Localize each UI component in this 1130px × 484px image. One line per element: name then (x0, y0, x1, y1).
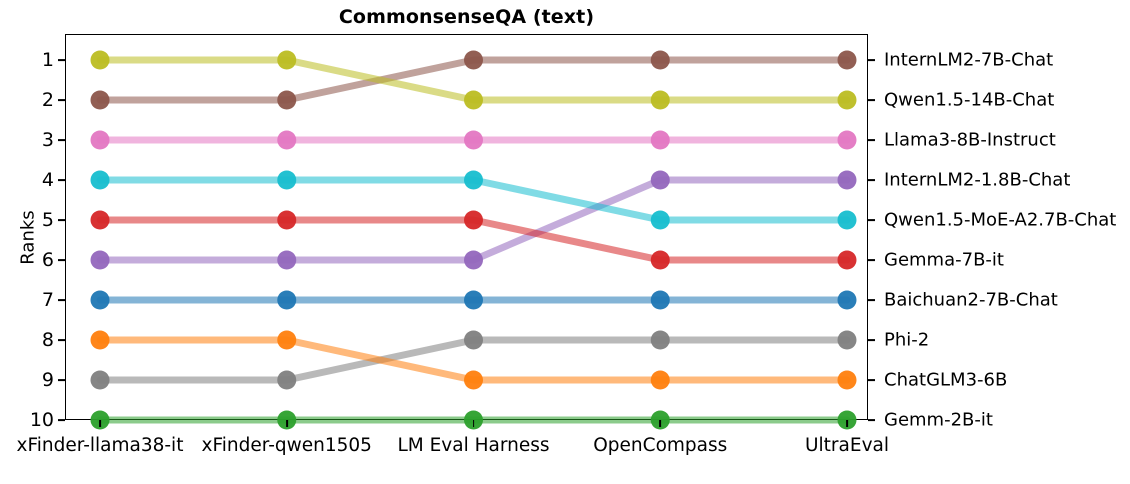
y-tick-label: 4 (10, 169, 54, 191)
data-point-marker[interactable] (464, 51, 483, 70)
x-tick-label: xFinder-llama38-it (17, 435, 184, 456)
x-tick-mark (846, 420, 848, 427)
right-tick-mark (868, 299, 875, 301)
data-point-marker[interactable] (464, 371, 483, 390)
data-point-marker[interactable] (277, 251, 296, 270)
data-point-marker[interactable] (838, 291, 857, 310)
data-point-marker[interactable] (651, 251, 670, 270)
data-point-marker[interactable] (651, 91, 670, 110)
series-label[interactable]: Llama3-8B-Instruct (884, 130, 1056, 151)
data-point-marker[interactable] (91, 91, 110, 110)
y-tick-label: 7 (10, 289, 54, 311)
data-point-marker[interactable] (91, 171, 110, 190)
series-label[interactable]: Gemm-2B-it (884, 410, 993, 431)
y-tick-mark (58, 99, 65, 101)
series-label[interactable]: Phi-2 (884, 330, 929, 351)
x-tick-mark (473, 420, 475, 427)
y-tick-mark (58, 59, 65, 61)
data-point-marker[interactable] (277, 211, 296, 230)
right-tick-mark (868, 219, 875, 221)
series-label[interactable]: Qwen1.5-14B-Chat (884, 90, 1054, 111)
right-tick-mark (868, 99, 875, 101)
x-tick-label: xFinder-qwen1505 (202, 435, 372, 456)
right-tick-mark (868, 339, 875, 341)
y-tick-mark (58, 299, 65, 301)
y-tick-label: 5 (10, 209, 54, 231)
data-point-marker[interactable] (91, 291, 110, 310)
data-point-marker[interactable] (277, 291, 296, 310)
data-point-marker[interactable] (651, 51, 670, 70)
data-point-marker[interactable] (651, 171, 670, 190)
data-point-marker[interactable] (464, 251, 483, 270)
data-point-marker[interactable] (277, 131, 296, 150)
y-tick-label: 2 (10, 89, 54, 111)
x-tick-mark (286, 420, 288, 427)
right-tick-mark (868, 139, 875, 141)
series-label[interactable]: Baichuan2-7B-Chat (884, 290, 1058, 311)
chart-canvas: CommonsenseQA (text) Ranks 12345678910 x… (0, 0, 1130, 484)
data-point-marker[interactable] (838, 171, 857, 190)
data-point-marker[interactable] (464, 91, 483, 110)
data-point-marker[interactable] (277, 371, 296, 390)
series-label[interactable]: ChatGLM3-6B (884, 370, 1007, 391)
series-label[interactable]: InternLM2-1.8B-Chat (884, 170, 1070, 191)
right-tick-mark (868, 59, 875, 61)
data-point-marker[interactable] (651, 291, 670, 310)
x-tick-mark (659, 420, 661, 427)
y-tick-mark (58, 139, 65, 141)
x-tick-mark (99, 420, 101, 427)
data-point-marker[interactable] (91, 211, 110, 230)
data-point-marker[interactable] (464, 131, 483, 150)
y-tick-mark (58, 259, 65, 261)
right-tick-mark (868, 379, 875, 381)
data-point-marker[interactable] (651, 131, 670, 150)
data-point-marker[interactable] (91, 51, 110, 70)
data-point-marker[interactable] (91, 131, 110, 150)
y-tick-mark (58, 219, 65, 221)
right-tick-mark (868, 259, 875, 261)
y-tick-label: 9 (10, 369, 54, 391)
data-point-marker[interactable] (838, 251, 857, 270)
right-tick-mark (868, 179, 875, 181)
data-point-marker[interactable] (277, 171, 296, 190)
y-tick-mark (58, 339, 65, 341)
data-point-marker[interactable] (91, 251, 110, 270)
y-tick-label: 1 (10, 49, 54, 71)
data-point-marker[interactable] (838, 51, 857, 70)
data-point-marker[interactable] (838, 91, 857, 110)
x-tick-label: OpenCompass (593, 435, 727, 456)
x-tick-label: UltraEval (805, 435, 889, 456)
y-tick-label: 8 (10, 329, 54, 351)
data-point-marker[interactable] (838, 331, 857, 350)
data-point-marker[interactable] (277, 51, 296, 70)
series-label[interactable]: InternLM2-7B-Chat (884, 50, 1053, 71)
data-point-marker[interactable] (464, 291, 483, 310)
data-point-marker[interactable] (651, 371, 670, 390)
data-point-marker[interactable] (838, 131, 857, 150)
right-tick-mark (868, 419, 875, 421)
y-tick-mark (58, 179, 65, 181)
data-point-marker[interactable] (651, 331, 670, 350)
data-point-marker[interactable] (464, 331, 483, 350)
data-point-marker[interactable] (464, 211, 483, 230)
data-point-marker[interactable] (277, 91, 296, 110)
data-point-marker[interactable] (464, 171, 483, 190)
data-point-marker[interactable] (651, 211, 670, 230)
y-tick-label: 10 (10, 409, 54, 431)
data-point-marker[interactable] (91, 371, 110, 390)
data-point-marker[interactable] (838, 211, 857, 230)
y-tick-mark (58, 379, 65, 381)
data-point-marker[interactable] (838, 371, 857, 390)
y-tick-label: 6 (10, 249, 54, 271)
y-tick-mark (58, 419, 65, 421)
x-tick-label: LM Eval Harness (397, 435, 549, 456)
data-point-marker[interactable] (277, 331, 296, 350)
series-label[interactable]: Qwen1.5-MoE-A2.7B-Chat (884, 210, 1116, 231)
y-tick-label: 3 (10, 129, 54, 151)
series-label[interactable]: Gemma-7B-it (884, 250, 1004, 271)
data-point-marker[interactable] (91, 331, 110, 350)
